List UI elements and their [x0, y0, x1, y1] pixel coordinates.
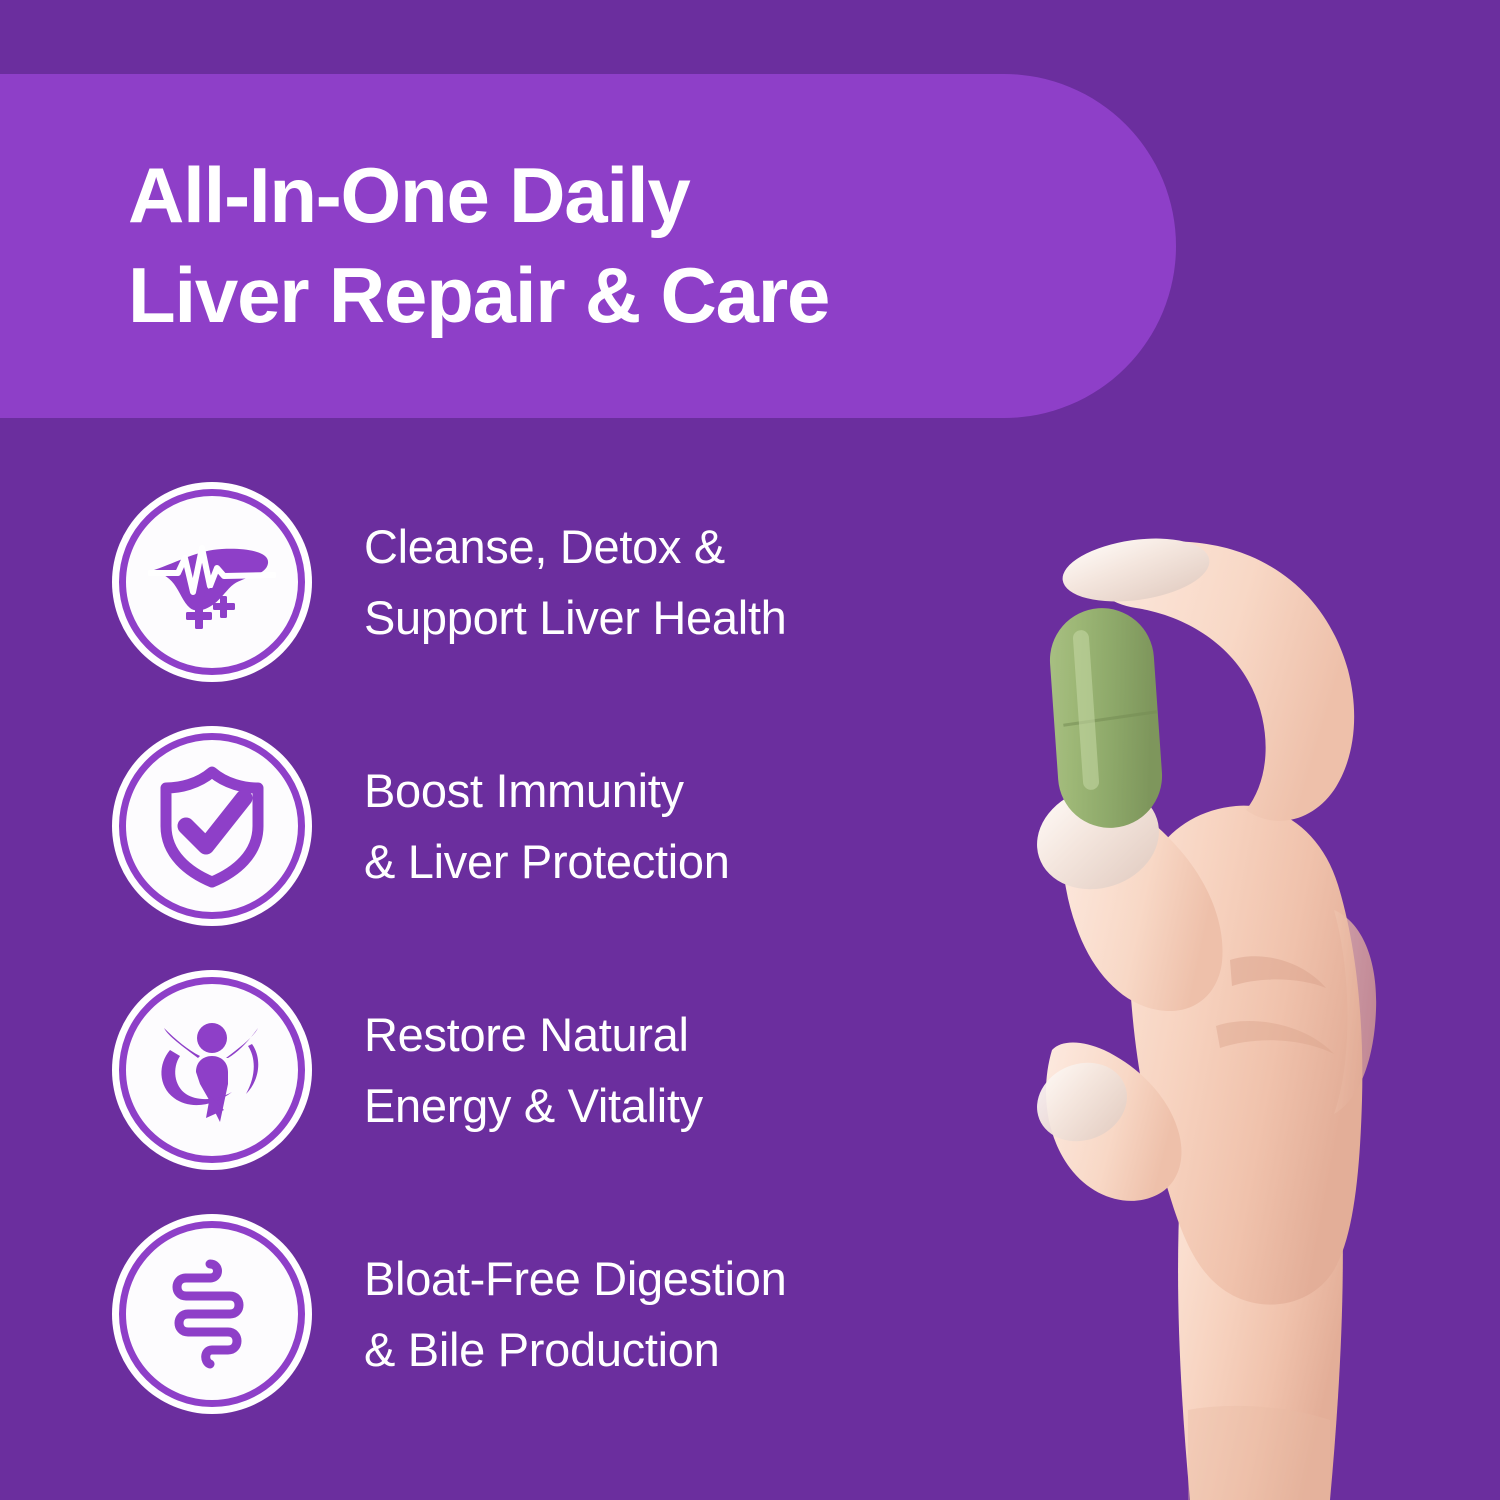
feature-text-line-2: Energy & Vitality: [364, 1070, 703, 1141]
hand-illustration: [930, 430, 1500, 1500]
feature-row: Boost Immunity & Liver Protection: [112, 722, 912, 930]
feature-icon-badge: [112, 482, 312, 682]
feature-text-line-1: Cleanse, Detox &: [364, 511, 786, 582]
green-capsule: [1046, 605, 1165, 832]
feature-icon-badge: [112, 726, 312, 926]
feature-row: Cleanse, Detox & Support Liver Health: [112, 478, 912, 686]
wrist-shading: [1188, 1406, 1330, 1500]
hand-holding-capsule-photo: [930, 430, 1500, 1500]
headline-line-1: All-In-One Daily: [128, 146, 1116, 246]
feature-icon-badge: [112, 1214, 312, 1414]
shield-check-icon: [148, 762, 276, 890]
feature-text: Cleanse, Detox & Support Liver Health: [364, 511, 786, 654]
feature-row: Bloat-Free Digestion & Bile Production: [112, 1210, 912, 1418]
vitality-person-icon: [148, 1006, 276, 1134]
feature-row: Restore Natural Energy & Vitality: [112, 966, 912, 1174]
feature-text: Restore Natural Energy & Vitality: [364, 999, 703, 1142]
feature-text-line-2: & Liver Protection: [364, 826, 730, 897]
headline-line-2: Liver Repair & Care: [128, 246, 1116, 346]
feature-icon-badge: [112, 970, 312, 1170]
feature-text: Boost Immunity & Liver Protection: [364, 755, 730, 898]
feature-text-line-1: Boost Immunity: [364, 755, 730, 826]
feature-text-line-1: Restore Natural: [364, 999, 703, 1070]
headline-banner: All-In-One Daily Liver Repair & Care: [0, 74, 1176, 418]
feature-text-line-1: Bloat-Free Digestion: [364, 1243, 786, 1314]
product-marketing-image: All-In-One Daily Liver Repair & Care: [0, 0, 1500, 1500]
feature-text: Bloat-Free Digestion & Bile Production: [364, 1243, 786, 1386]
liver-pulse-icon: [148, 518, 276, 646]
feature-text-line-2: & Bile Production: [364, 1314, 786, 1385]
intestine-icon: [148, 1250, 276, 1378]
feature-text-line-2: Support Liver Health: [364, 582, 786, 653]
feature-list: Cleanse, Detox & Support Liver Health Bo…: [112, 478, 912, 1418]
